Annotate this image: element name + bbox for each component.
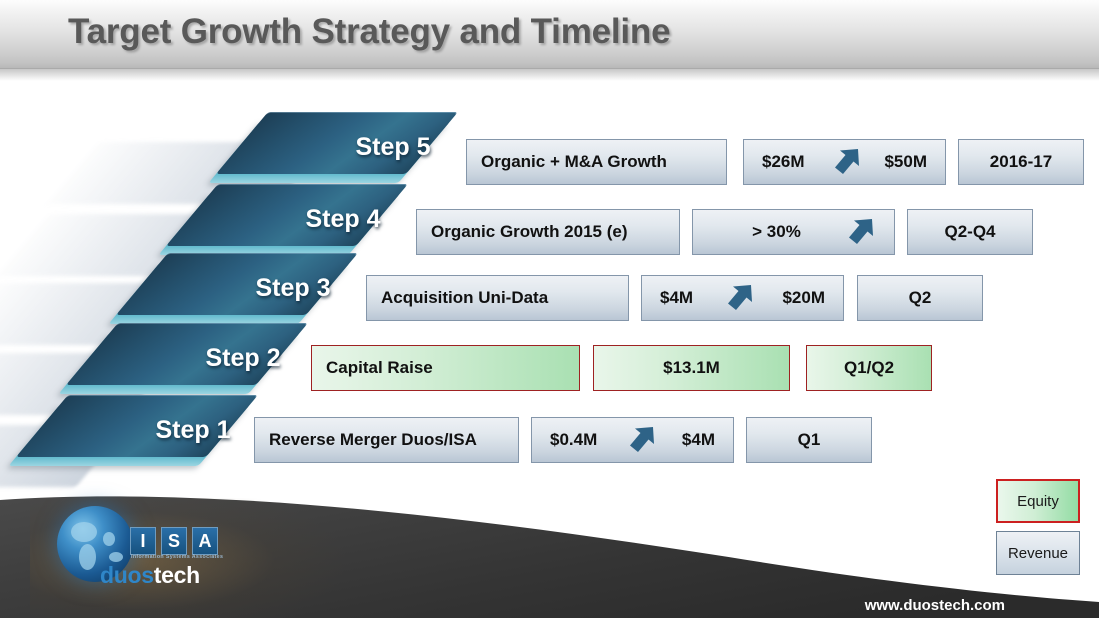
- step-timing-1: Q1: [746, 417, 872, 463]
- up-right-arrow-icon: [828, 145, 862, 179]
- metric-to-5: $50M: [884, 152, 927, 172]
- header-shadow: [0, 69, 1099, 81]
- step-description-4: Organic Growth 2015 (e): [416, 209, 680, 255]
- metric-from-1: $0.4M: [550, 430, 597, 450]
- isa-subtitle: Information Systems Associates: [131, 554, 245, 560]
- metric-single-4: > 30%: [711, 222, 842, 242]
- step-metric-4: > 30%: [692, 209, 895, 255]
- isa-letter-i: I: [130, 527, 156, 555]
- step-description-1: Reverse Merger Duos/ISA: [254, 417, 519, 463]
- brand-tech: tech: [154, 562, 200, 588]
- isa-logo: ISA: [130, 527, 223, 555]
- slab-top-5: [216, 112, 458, 174]
- step-description-2: Capital Raise: [311, 345, 580, 391]
- isa-letter-a: A: [192, 527, 218, 555]
- brand-duos: duos: [100, 562, 154, 588]
- step-metric-5: $26M $50M: [743, 139, 946, 185]
- metric-to-1: $4M: [682, 430, 715, 450]
- step-timing-2: Q1/Q2: [806, 345, 932, 391]
- step-description-5: Organic + M&A Growth: [466, 139, 727, 185]
- step-metric-2: $13.1M: [593, 345, 790, 391]
- metric-from-5: $26M: [762, 152, 805, 172]
- metric-to-3: $20M: [782, 288, 825, 308]
- metric-from-3: $4M: [660, 288, 693, 308]
- step-timing-4: Q2-Q4: [907, 209, 1033, 255]
- duostech-wordmark: duostech: [100, 562, 200, 589]
- step-slab-shape-5: [216, 112, 458, 174]
- website-url: www.duostech.com: [865, 597, 1005, 614]
- up-right-arrow-icon: [623, 423, 657, 457]
- step-description-3: Acquisition Uni-Data: [366, 275, 629, 321]
- isa-letter-s: S: [161, 527, 187, 555]
- up-right-arrow-icon: [721, 281, 755, 315]
- slide-canvas: Target Growth Strategy and Timeline Step…: [0, 0, 1099, 618]
- step-timing-3: Q2: [857, 275, 983, 321]
- step-metric-3: $4M $20M: [641, 275, 844, 321]
- up-right-arrow-icon: [842, 215, 876, 249]
- step-timing-5: 2016-17: [958, 139, 1084, 185]
- page-title: Target Growth Strategy and Timeline: [68, 12, 670, 52]
- step-metric-1: $0.4M $4M: [531, 417, 734, 463]
